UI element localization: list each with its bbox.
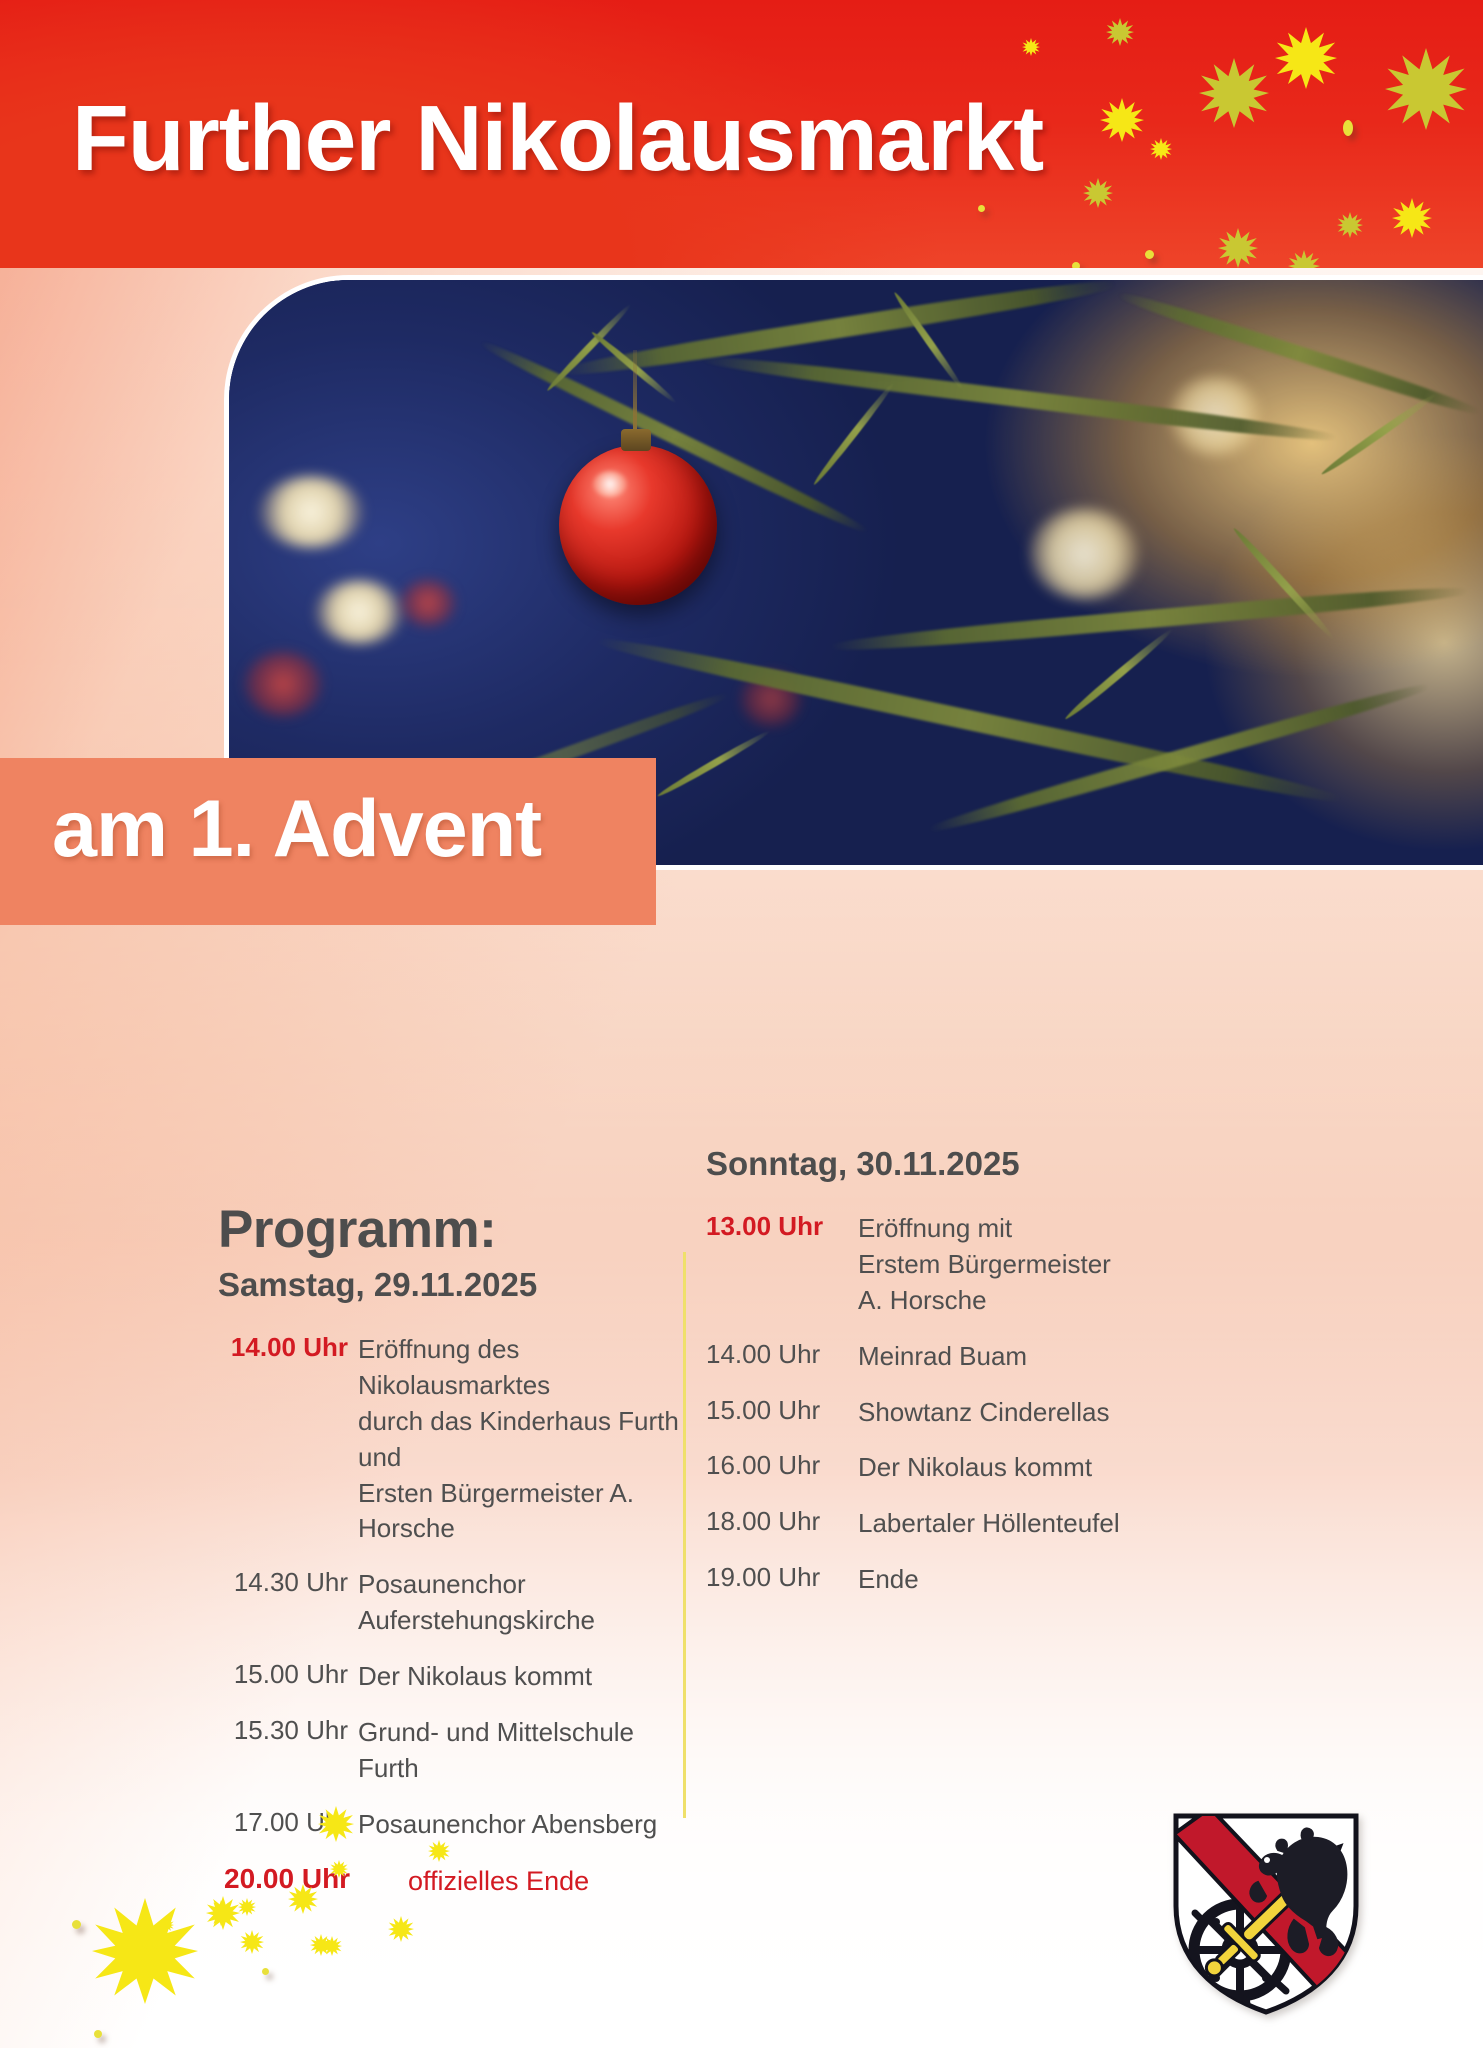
star-icon <box>1106 18 1134 46</box>
schedule-description: Eröffnung des Nikolausmarktesdurch das K… <box>358 1332 698 1547</box>
schedule-description: offizielles Ende <box>408 1863 589 1900</box>
schedule-description: Posaunenchor Auferstehungskirche <box>358 1567 698 1639</box>
star-dot-icon <box>72 1920 81 1929</box>
schedule-description: Posaunenchor Abensberg <box>358 1807 657 1843</box>
star-icon <box>1150 138 1172 160</box>
star-icon <box>1392 198 1432 238</box>
advent-subtitle: am 1. Advent <box>52 783 541 876</box>
star-dot-icon <box>978 205 985 212</box>
schedule-description: Der Nikolaus kommt <box>858 1450 1092 1486</box>
schedule-time: 14.00 Uhr <box>706 1339 846 1370</box>
schedule-row: 14.00 UhrEröffnung des Nikolausmarktesdu… <box>218 1332 698 1547</box>
star-icon <box>1083 178 1113 208</box>
poster-root: Further Nikolausmarkt <box>0 0 1483 2048</box>
program-heading: Programm: <box>218 1203 698 1256</box>
star-dot-icon <box>1145 250 1154 259</box>
schedule-row: 18.00 UhrLabertaler Höllenteufel <box>706 1506 1306 1542</box>
star-icon <box>1218 228 1258 268</box>
schedule-time: 15.00 Uhr <box>218 1659 348 1690</box>
schedule-row: 15.00 UhrShowtanz Cinderellas <box>706 1395 1306 1431</box>
schedule-row: 14.00 UhrMeinrad Buam <box>706 1339 1306 1375</box>
schedule-row: 13.00 UhrEröffnung mitErstem Bürgermeist… <box>706 1211 1306 1319</box>
saturday-schedule-list: 14.00 UhrEröffnung des Nikolausmarktesdu… <box>218 1332 698 1900</box>
program-column-sunday: Sonntag, 30.11.2025 13.00 UhrEröffnung m… <box>706 1145 1306 1618</box>
star-icon <box>1100 98 1144 142</box>
schedule-description: Grund- und Mittelschule Furth <box>358 1715 698 1787</box>
schedule-time: 13.00 Uhr <box>706 1211 846 1242</box>
ornament-bauble <box>559 445 717 605</box>
schedule-row: 15.00 UhrDer Nikolaus kommt <box>218 1659 698 1695</box>
schedule-row: 15.30 UhrGrund- und Mittelschule Furth <box>218 1715 698 1787</box>
schedule-time: 18.00 Uhr <box>706 1506 846 1537</box>
schedule-time: 14.30 Uhr <box>218 1567 348 1598</box>
schedule-time: 14.00 Uhr <box>218 1332 348 1363</box>
schedule-row: 14.30 UhrPosaunenchor Auferstehungskirch… <box>218 1567 698 1639</box>
header-banner: Further Nikolausmarkt <box>0 0 1483 268</box>
star-icon <box>1288 250 1320 268</box>
star-dot-icon <box>1072 262 1080 268</box>
star-dot-icon <box>1343 120 1353 136</box>
program-column-saturday: Programm: Samstag, 29.11.2025 14.00 UhrE… <box>218 1203 698 1920</box>
schedule-time: 15.30 Uhr <box>218 1715 348 1746</box>
sunday-date-label: Sonntag, 30.11.2025 <box>706 1145 1306 1183</box>
schedule-time: 19.00 Uhr <box>706 1562 846 1593</box>
schedule-description: Labertaler Höllenteufel <box>858 1506 1120 1542</box>
schedule-description: Meinrad Buam <box>858 1339 1027 1375</box>
schedule-description: Der Nikolaus kommt <box>358 1659 592 1695</box>
page-title: Further Nikolausmarkt <box>72 85 1043 192</box>
star-icon <box>1385 48 1467 130</box>
schedule-description: Showtanz Cinderellas <box>858 1395 1109 1431</box>
schedule-row: 17.00 UhrPosaunenchor Abensberg <box>218 1807 698 1843</box>
star-icon <box>1337 212 1363 238</box>
star-icon <box>1275 27 1337 89</box>
schedule-time: 15.00 Uhr <box>706 1395 846 1426</box>
furth-coat-of-arms <box>1168 1810 1364 2018</box>
schedule-row: 16.00 UhrDer Nikolaus kommt <box>706 1450 1306 1486</box>
star-dot-icon <box>94 2030 102 2038</box>
sunday-schedule-list: 13.00 UhrEröffnung mitErstem Bürgermeist… <box>706 1211 1306 1598</box>
schedule-description: Ende <box>858 1562 919 1598</box>
star-icon <box>1199 58 1269 128</box>
schedule-row: 19.00 UhrEnde <box>706 1562 1306 1598</box>
star-icon <box>1022 38 1040 56</box>
schedule-description: Eröffnung mitErstem BürgermeisterA. Hors… <box>858 1211 1111 1319</box>
star-dot-icon <box>262 1968 269 1975</box>
schedule-time: 16.00 Uhr <box>706 1450 846 1481</box>
saturday-date-label: Samstag, 29.11.2025 <box>218 1266 698 1304</box>
